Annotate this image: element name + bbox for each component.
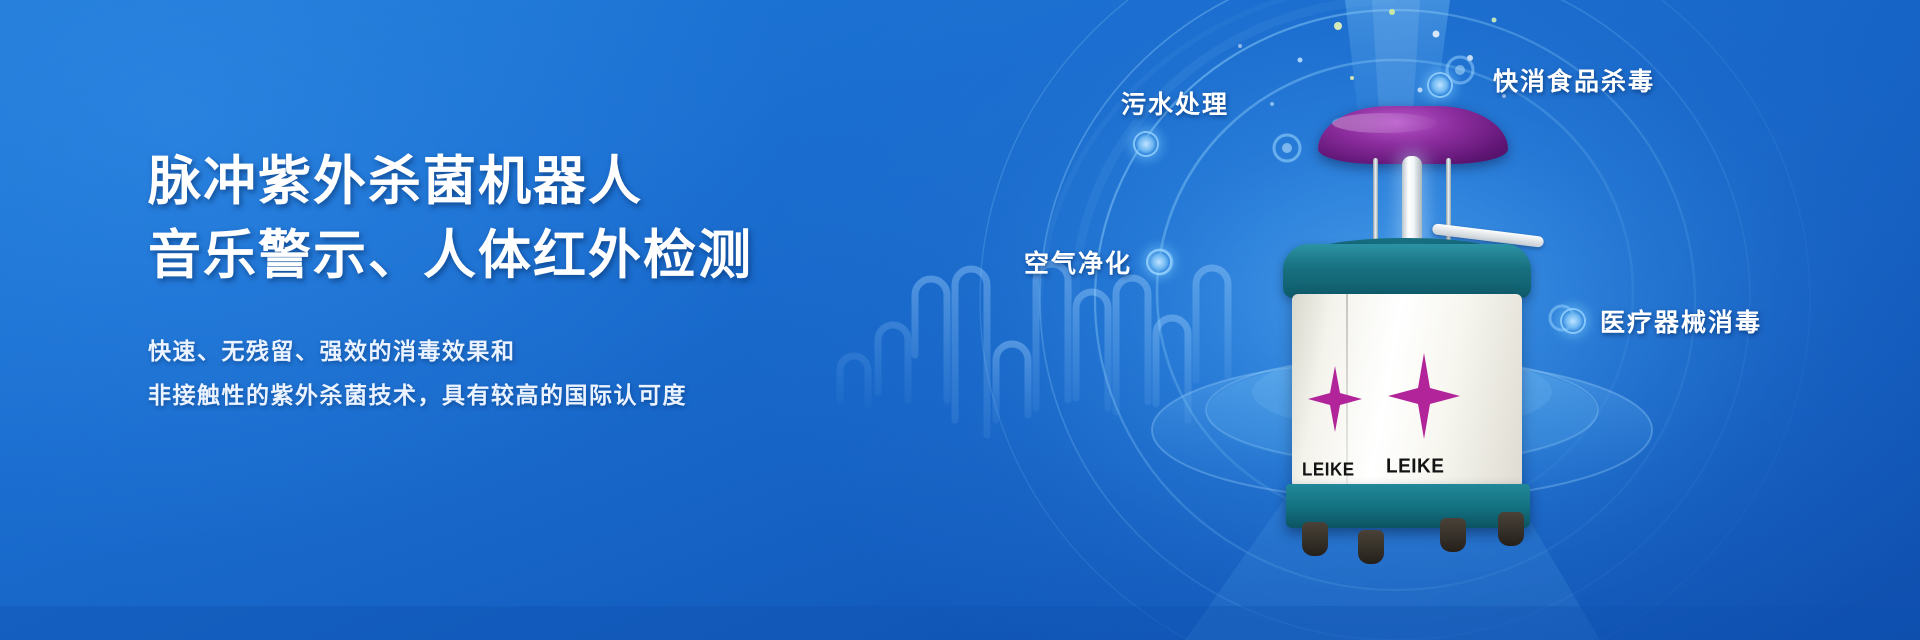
subtitle-line-2: 非接触性的紫外杀菌技术，具有较高的国际认可度 bbox=[148, 374, 848, 418]
sparkle-particles bbox=[1238, 9, 1506, 106]
hotspot-waste-water[interactable]: 污水处理 bbox=[1121, 85, 1229, 121]
hotspot-dot-icon bbox=[1146, 249, 1172, 275]
hotspot-air-purification[interactable]: 空气净化 bbox=[1024, 244, 1172, 280]
hero-text-block: 脉冲紫外杀菌机器人 音乐警示、人体红外检测 快速、无残留、强效的消毒效果和 非接… bbox=[148, 150, 848, 418]
hotspot-label-waste-water: 污水处理 bbox=[1121, 85, 1229, 121]
robot-brand-right: LEIKE bbox=[1386, 455, 1444, 478]
robot-caster-wheel bbox=[1302, 522, 1328, 556]
robot-upper-housing bbox=[1283, 244, 1531, 298]
hotspot-medical-device[interactable]: 医疗器械消毒 bbox=[1560, 303, 1762, 339]
headline-line-1: 脉冲紫外杀菌机器人 bbox=[148, 150, 848, 212]
robot-caster-wheel bbox=[1440, 518, 1466, 552]
uv-disinfection-robot: LEIKE LEIKE bbox=[1250, 98, 1580, 568]
robot-brand-left: LEIKE bbox=[1302, 459, 1355, 480]
hero-banner: 脉冲紫外杀菌机器人 音乐警示、人体红外检测 快速、无残留、强效的消毒效果和 非接… bbox=[0, 0, 1920, 640]
hotspot-label-air-purification: 空气净化 bbox=[1024, 244, 1132, 280]
hotspot-dot-icon bbox=[1427, 72, 1453, 98]
headline-line-2: 音乐警示、人体红外检测 bbox=[148, 224, 848, 286]
subtitle-block: 快速、无残留、强效的消毒效果和 非接触性的紫外杀菌技术，具有较高的国际认可度 bbox=[148, 330, 848, 418]
floor-band bbox=[0, 606, 1920, 640]
robot-caster-wheel bbox=[1358, 530, 1384, 564]
hotspot-label-medical-device: 医疗器械消毒 bbox=[1600, 303, 1762, 339]
robot-support-rod-left bbox=[1373, 158, 1378, 246]
hotspot-dot-icon bbox=[1133, 131, 1159, 157]
soundwave-graphic bbox=[840, 264, 1228, 435]
robot-caster-wheel bbox=[1498, 512, 1524, 546]
hotspot-food-sterilize[interactable]: 快消食品杀毒 bbox=[1493, 62, 1655, 98]
subtitle-line-1: 快速、无残留、强效的消毒效果和 bbox=[148, 330, 848, 374]
robot-uv-lamp-tube bbox=[1402, 156, 1422, 248]
hotspot-label-food-sterilize: 快消食品杀毒 bbox=[1493, 62, 1655, 98]
